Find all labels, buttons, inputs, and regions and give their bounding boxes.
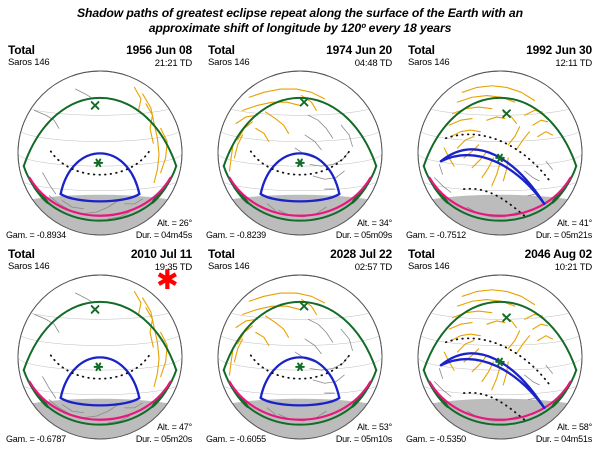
globe-container: [411, 272, 589, 442]
saros-series-label: Saros 146: [408, 57, 450, 68]
eclipse-date-label: 2010 Jul 11: [131, 247, 192, 261]
globe-container: [411, 68, 589, 238]
eclipse-date-label: 2028 Jul 22: [330, 247, 392, 261]
gamma-label: Gam. = -0.5350: [406, 434, 466, 444]
figure-title: Shadow paths of greatest eclipse repeat …: [0, 0, 600, 42]
globe-diagram: [11, 272, 189, 442]
saros-series-label: Saros 146: [208, 57, 250, 68]
gamma-label: Gam. = -0.6055: [206, 434, 266, 444]
eclipse-panel: TotalSaros 1461956 Jun 0821:21 TDAlt. = …: [0, 42, 200, 246]
saros-series-label: Saros 146: [208, 261, 250, 272]
eclipse-type-label: Total: [408, 247, 435, 261]
eclipse-type-label: Total: [8, 43, 35, 57]
eclipse-time-label: 02:57 TD: [355, 262, 392, 273]
gamma-label: Gam. = -0.6787: [6, 434, 66, 444]
eclipse-panel: TotalSaros 1462028 Jul 2202:57 TDAlt. = …: [200, 246, 400, 450]
eclipse-date-label: 2046 Aug 02: [525, 247, 592, 261]
duration-label: Dur. = 05m10s: [336, 434, 392, 444]
globe-diagram: [211, 272, 389, 442]
duration-label: Dur. = 05m20s: [136, 434, 192, 444]
globe-diagram: [11, 68, 189, 238]
altitude-label: Alt. = 26°: [157, 218, 192, 228]
altitude-label: Alt. = 41°: [557, 218, 592, 228]
saros-series-label: Saros 146: [408, 261, 450, 272]
eclipse-panel: TotalSaros 1462010 Jul 1119:35 TDAlt. = …: [0, 246, 200, 450]
globe-container: [211, 272, 389, 442]
eclipse-panel: TotalSaros 1461974 Jun 2004:48 TDAlt. = …: [200, 42, 400, 246]
eclipse-type-label: Total: [208, 247, 235, 261]
highlight-asterisk-icon: ✱: [156, 267, 179, 294]
globe-container: [11, 272, 189, 442]
globe-container: [11, 68, 189, 238]
globe-diagram: [411, 68, 589, 238]
globe-diagram: [211, 68, 389, 238]
gamma-label: Gam. = -0.8934: [6, 230, 66, 240]
eclipse-date-label: 1956 Jun 08: [126, 43, 192, 57]
globe-container: [211, 68, 389, 238]
altitude-label: Alt. = 53°: [357, 422, 392, 432]
eclipse-time-label: 10:21 TD: [555, 262, 592, 273]
eclipse-date-label: 1992 Jun 30: [526, 43, 592, 57]
eclipse-time-label: 04:48 TD: [355, 58, 392, 69]
duration-label: Dur. = 05m09s: [336, 230, 392, 240]
eclipse-time-label: 12:11 TD: [555, 58, 592, 69]
eclipse-type-label: Total: [408, 43, 435, 57]
globe-diagram: [411, 272, 589, 442]
gamma-label: Gam. = -0.7512: [406, 230, 466, 240]
altitude-label: Alt. = 58°: [557, 422, 592, 432]
duration-label: Dur. = 05m21s: [536, 230, 592, 240]
altitude-label: Alt. = 34°: [357, 218, 392, 228]
altitude-label: Alt. = 47°: [157, 422, 192, 432]
figure-title-line-2: approximate shift of longitude by 120º e…: [149, 21, 452, 37]
figure-title-line-1: Shadow paths of greatest eclipse repeat …: [77, 6, 523, 22]
eclipse-type-label: Total: [208, 43, 235, 57]
eclipse-figure: Shadow paths of greatest eclipse repeat …: [0, 0, 600, 450]
gamma-label: Gam. = -0.8239: [206, 230, 266, 240]
eclipse-panel: TotalSaros 1462046 Aug 0210:21 TDAlt. = …: [400, 246, 600, 450]
eclipse-type-label: Total: [8, 247, 35, 261]
eclipse-panel-grid: TotalSaros 1461956 Jun 0821:21 TDAlt. = …: [0, 42, 600, 450]
eclipse-date-label: 1974 Jun 20: [326, 43, 392, 57]
eclipse-time-label: 21:21 TD: [155, 58, 192, 69]
saros-series-label: Saros 146: [8, 261, 50, 272]
duration-label: Dur. = 04m45s: [136, 230, 192, 240]
duration-label: Dur. = 04m51s: [536, 434, 592, 444]
eclipse-panel: TotalSaros 1461992 Jun 3012:11 TDAlt. = …: [400, 42, 600, 246]
saros-series-label: Saros 146: [8, 57, 50, 68]
